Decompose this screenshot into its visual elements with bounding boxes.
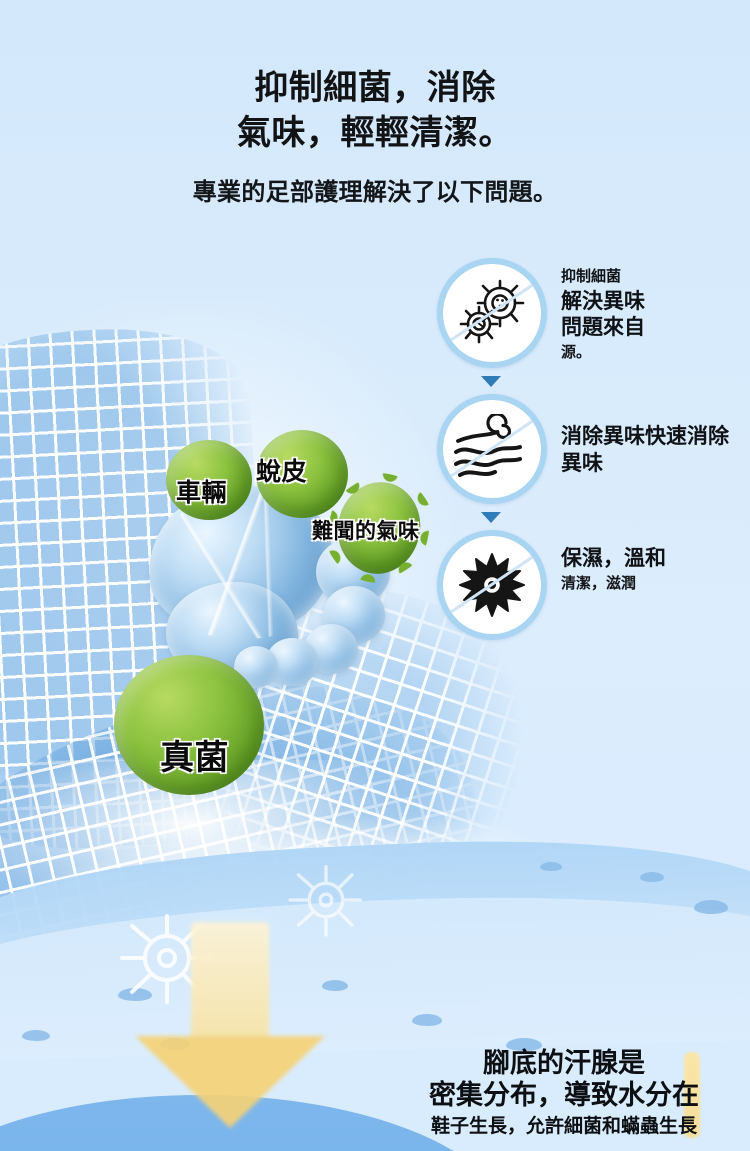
down-triangle-icon-1 — [481, 376, 501, 387]
header-block: 抑制細菌，消除 氣味，輕輕清潔。 專業的足部護理解決了以下問題。 — [0, 0, 750, 207]
promo-banner: 車輛 蛻皮 難聞的氣味 真菌 抑制細菌，消除 氣味，輕輕清潔。 專業的足部護理解… — [0, 0, 750, 1151]
germ-label-peeling: 蛻皮 — [256, 452, 307, 488]
bacteria-icon — [437, 258, 547, 368]
feature-small-title: 抑制細菌 — [561, 266, 645, 289]
feature-title-line1: 保濕，溫和 — [561, 546, 666, 573]
feature-title-line2: 問題來自 — [561, 315, 645, 342]
feature-text: 消除異味快速消除 異味 — [547, 394, 729, 478]
feature-separator-1 — [437, 368, 750, 394]
footer-line2: 密集分布，導致水分在 — [378, 1079, 750, 1111]
feature-item-inhibit-bacteria: 抑制細菌 解決異味 問題來自 源。 — [437, 258, 750, 368]
odor-wave-icon — [437, 394, 547, 504]
feature-title-line1: 解決異味 — [561, 289, 645, 316]
footer-copy: 腳底的汗腺是 密集分布，導致水分在 鞋子生長，允許細菌和蟎蟲生長 — [378, 1047, 750, 1139]
feature-title-line2: 異味 — [561, 451, 729, 478]
germ-label-fungus: 真菌 — [160, 730, 229, 779]
down-triangle-icon-2 — [481, 512, 501, 523]
feature-sub: 源。 — [561, 342, 645, 365]
feature-text: 抑制細菌 解決異味 問題來自 源。 — [547, 258, 645, 365]
page-title-line2: 氣味，輕輕清潔。 — [0, 111, 750, 156]
germ-label-bad-odor: 難聞的氣味 — [312, 515, 420, 545]
footer-line1: 腳底的汗腺是 — [378, 1047, 750, 1079]
footer-line3: 鞋子生長，允許細菌和蟎蟲生長 — [378, 1112, 750, 1140]
germ-label-vehicle: 車輛 — [176, 473, 227, 509]
page-title: 抑制細菌，消除 氣味，輕輕清潔。 — [0, 0, 750, 156]
feature-list: 抑制細菌 解決異味 問題來自 源。 — [437, 258, 750, 640]
feature-sub: 清潔，滋潤 — [561, 573, 666, 596]
page-title-line1: 抑制細菌，消除 — [0, 66, 750, 111]
feature-item-remove-odor: 消除異味快速消除 異味 — [437, 394, 750, 504]
feature-separator-2 — [437, 504, 750, 530]
feature-item-moisturize: 保濕，溫和 清潔，滋潤 — [437, 530, 750, 640]
feature-text: 保濕，溫和 清潔，滋潤 — [547, 530, 666, 595]
feature-title-line1: 消除異味快速消除 — [561, 424, 729, 451]
mite-icon — [437, 530, 547, 640]
page-subtitle: 專業的足部護理解決了以下問題。 — [0, 156, 750, 207]
